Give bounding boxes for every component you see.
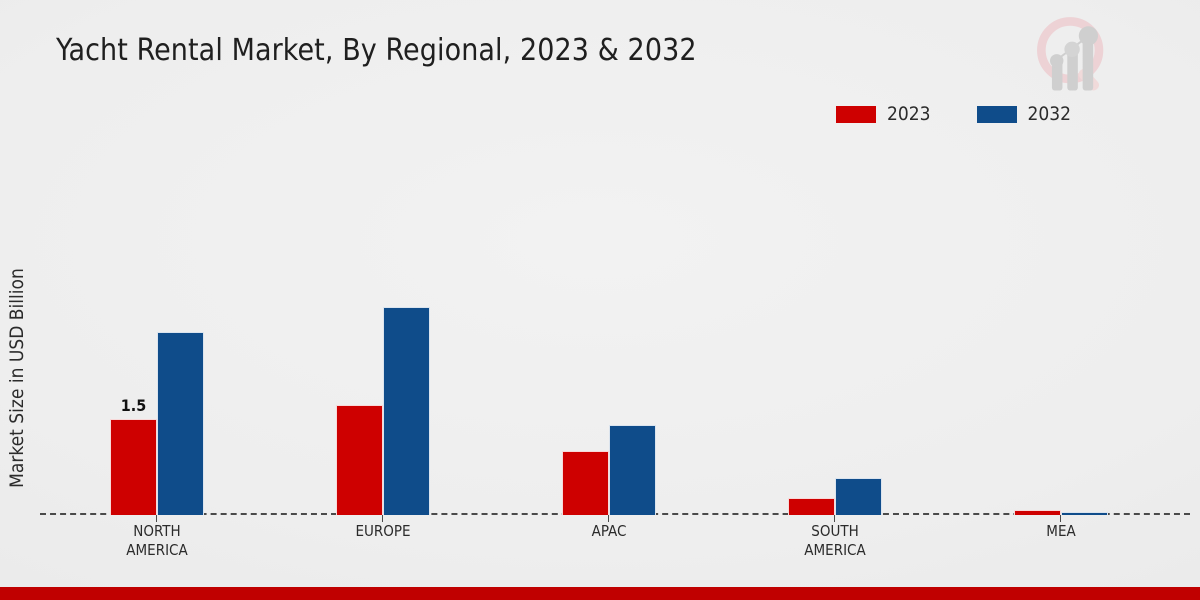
bar-2032-europe[interactable]	[383, 307, 430, 515]
bar-2023-apac[interactable]	[562, 451, 609, 515]
bar-2032-mea[interactable]	[1061, 512, 1108, 515]
x-axis-label-north-america-line2: AMERICA	[57, 541, 257, 560]
legend-label-2023: 2023	[887, 103, 931, 125]
bar-2032-north-america[interactable]	[157, 332, 204, 515]
x-axis-label-mea: MEA	[961, 522, 1161, 541]
x-axis-label-europe: EUROPE	[283, 522, 483, 541]
x-axis-label-europe-line1: EUROPE	[283, 522, 483, 541]
bar-group-south-america	[735, 140, 935, 515]
bar-2032-apac[interactable]	[609, 425, 656, 515]
x-axis-label-south-america-line1: SOUTH	[735, 522, 935, 541]
legend-item-2023[interactable]: 2023	[836, 103, 931, 125]
bar-group-europe	[283, 140, 483, 515]
x-axis-label-apac-line1: APAC	[509, 522, 709, 541]
magnifier-bars-logo-icon	[1026, 8, 1122, 104]
bar-2032-south-america[interactable]	[835, 478, 882, 515]
x-axis-label-apac: APAC	[509, 522, 709, 541]
y-axis-title-text: Market Size in USD Billion	[6, 268, 28, 488]
x-axis-label-mea-line1: MEA	[961, 522, 1161, 541]
bar-2023-mea[interactable]	[1014, 510, 1061, 515]
chart-title: Yacht Rental Market, By Regional, 2023 &…	[56, 33, 697, 68]
bar-group-north-america: 1.5	[57, 140, 257, 515]
chart-legend: 2023 2032	[836, 103, 1071, 125]
x-axis-tick-mea	[1060, 515, 1061, 522]
x-axis-tick-north-america	[156, 515, 157, 522]
legend-swatch-2032	[977, 106, 1017, 123]
legend-item-2032[interactable]: 2032	[977, 103, 1072, 125]
bottom-accent-bar	[0, 587, 1200, 600]
bar-2023-south-america[interactable]	[788, 498, 835, 515]
chart-container: Yacht Rental Market, By Regional, 2023 &…	[0, 0, 1200, 600]
x-axis-label-north-america: NORTH AMERICA	[57, 522, 257, 560]
x-axis-label-north-america-line1: NORTH	[57, 522, 257, 541]
bar-group-mea	[961, 140, 1161, 515]
plot-area: 1.5	[40, 140, 1190, 515]
x-axis-label-south-america-line2: AMERICA	[735, 541, 935, 560]
legend-swatch-2023	[836, 106, 876, 123]
x-axis-tick-europe	[382, 515, 383, 522]
x-axis-tick-apac	[608, 515, 609, 522]
x-axis-label-south-america: SOUTH AMERICA	[735, 522, 935, 560]
bar-group-apac	[509, 140, 709, 515]
x-axis-tick-south-america	[834, 515, 835, 522]
bar-2023-europe[interactable]	[336, 405, 383, 515]
bar-2023-north-america[interactable]	[110, 419, 157, 515]
legend-label-2032: 2032	[1028, 103, 1072, 125]
y-axis-title: Market Size in USD Billion	[2, 218, 32, 538]
value-label-north-america-2023: 1.5	[110, 396, 157, 415]
